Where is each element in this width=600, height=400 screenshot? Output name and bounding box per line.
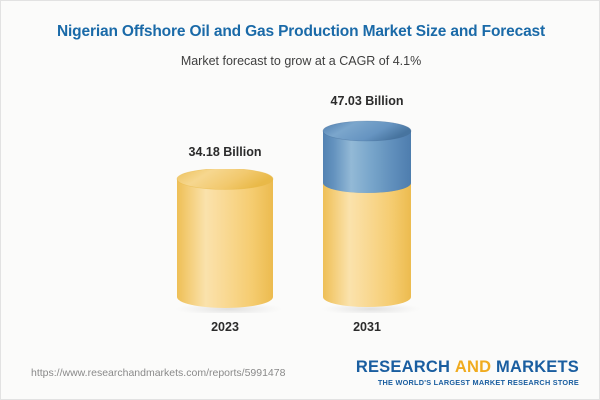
brand-word-markets: MARKETS: [496, 358, 579, 376]
source-url-link[interactable]: https://www.researchandmarkets.com/repor…: [31, 367, 285, 379]
bar-value-label-2031: 47.03 Billion: [313, 94, 421, 108]
brand-tagline: THE WORLD'S LARGEST MARKET RESEARCH STOR…: [356, 378, 579, 387]
bar-group-2023[interactable]: 34.18 Billion: [167, 1, 283, 351]
plot-area: 34.18 Billion: [1, 1, 600, 351]
brand-word-research: RESEARCH: [356, 358, 450, 376]
brand-word-and: AND: [455, 358, 491, 376]
brand-logo[interactable]: RESEARCH AND MARKETS THE WORLD'S LARGEST…: [356, 359, 579, 387]
bar-cylinder-2023: [167, 169, 283, 313]
bar-value-label-2023: 34.18 Billion: [167, 145, 283, 159]
bar-cylinder-2031: [313, 115, 421, 313]
bar-group-2031[interactable]: 47.03 Billion: [313, 1, 421, 351]
chart-canvas: Nigerian Offshore Oil and Gas Production…: [0, 0, 600, 400]
bar-category-label-2023: 2023: [167, 320, 283, 334]
bar-category-label-2031: 2031: [313, 320, 421, 334]
chart-footer: https://www.researchandmarkets.com/repor…: [1, 349, 600, 399]
brand-wordmark: RESEARCH AND MARKETS: [356, 359, 579, 376]
